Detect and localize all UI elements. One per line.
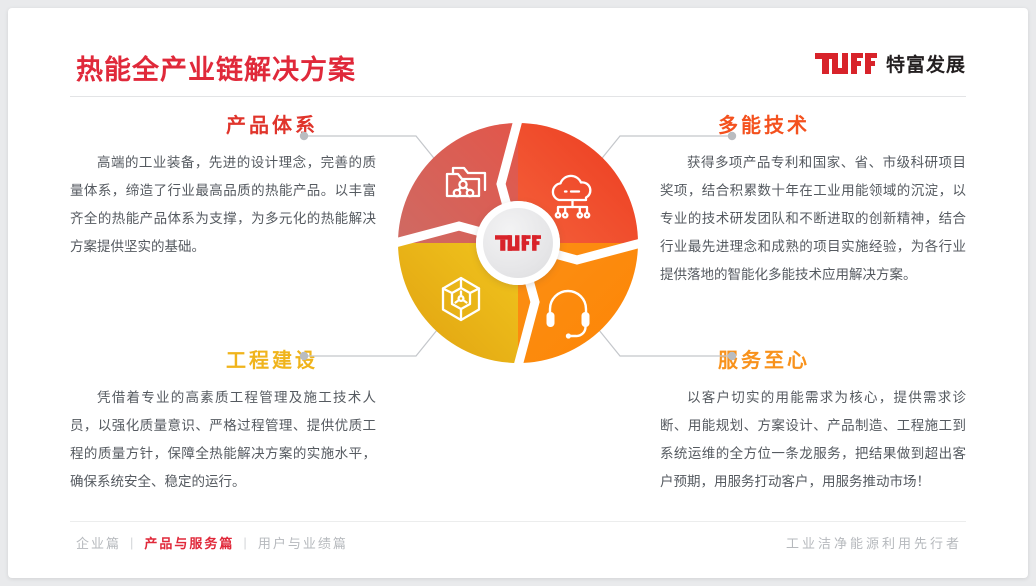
breadcrumb-separator: | <box>130 535 135 550</box>
breadcrumb-item-customers-performance[interactable]: 用户与业绩篇 <box>258 533 348 552</box>
donut-center-badge <box>476 201 560 285</box>
footer-divider <box>70 521 966 522</box>
tuff-logo-icon <box>815 53 877 74</box>
slide-header: 热能全产业链解决方案 <box>8 8 1028 100</box>
slide-canvas: 热能全产业链解决方案 <box>8 8 1028 578</box>
breadcrumb: 企业篇 | 产品与服务篇 | 用户与业绩篇 <box>76 533 348 552</box>
block-body-service-first: 以客户切实的用能需求为核心，提供需求诊断、用能规划、方案设计、产品制造、工程施工… <box>660 384 966 496</box>
block-body-engineering-construction: 凭借着专业的高素质工程管理及施工技术人员，以强化质量意识、严格过程管理、提供优质… <box>70 384 376 496</box>
block-service-first: 服务至心 以客户切实的用能需求为核心，提供需求诊断、用能规划、方案设计、产品制造… <box>660 351 966 496</box>
donut-center-inner <box>483 208 553 278</box>
brand-name-cn: 特富发展 <box>886 50 966 77</box>
header-divider <box>70 96 966 97</box>
page-title: 热能全产业链解决方案 <box>76 48 356 87</box>
footer-tagline: 工业洁净能源利用先行者 <box>786 533 962 552</box>
breadcrumb-item-company[interactable]: 企业篇 <box>76 533 121 552</box>
tuff-center-logo-icon <box>495 235 541 251</box>
block-engineering-construction: 工程建设 凭借着专业的高素质工程管理及施工技术人员，以强化质量意识、严格过程管理… <box>70 351 376 496</box>
brand-logo: 特富发展 <box>815 50 966 77</box>
breadcrumb-separator: | <box>243 535 248 550</box>
breadcrumb-item-products-services[interactable]: 产品与服务篇 <box>144 533 234 552</box>
